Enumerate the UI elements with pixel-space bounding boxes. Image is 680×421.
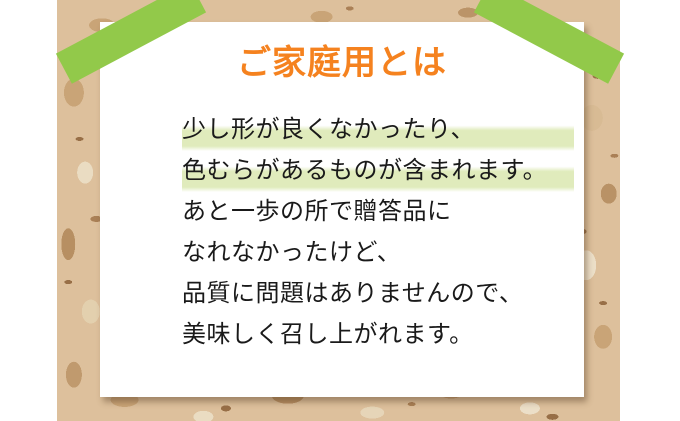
- body-line-1: 少し形が良くなかったり、: [182, 110, 582, 151]
- body-line-5: 品質に問題はありませんので、: [182, 274, 582, 315]
- body-line-2: 色むらがあるものが含まれます。: [182, 151, 582, 192]
- body-line-4: なれなかったけど、: [182, 233, 582, 274]
- body-line-6: 美味しく召し上がれます。: [182, 315, 582, 356]
- body-line-3: あと一歩の所で贈答品に: [182, 192, 582, 233]
- page-title: ご家庭用とは: [100, 44, 584, 84]
- banner-image: ご家庭用とは 少し形が良くなかったり、 色むらがあるものが含まれます。 あと一歩…: [0, 0, 680, 421]
- body-text-block: 少し形が良くなかったり、 色むらがあるものが含まれます。 あと一歩の所で贈答品に…: [182, 110, 582, 356]
